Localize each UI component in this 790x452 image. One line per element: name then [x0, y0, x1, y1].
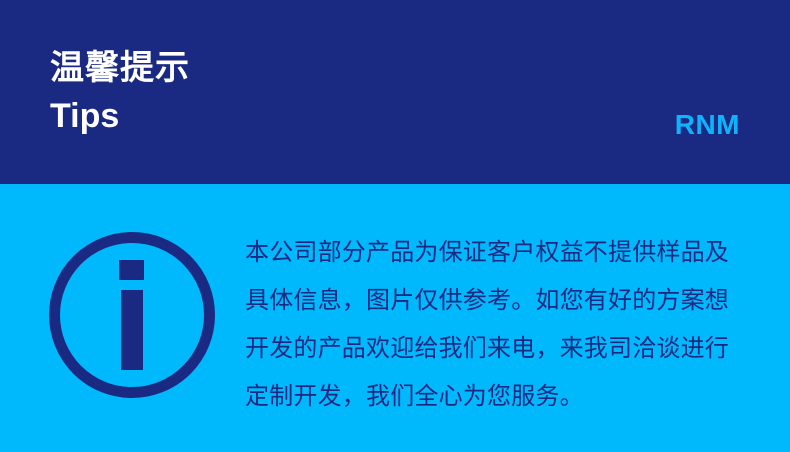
notice-line: 具体信息，图片仅供参考。如您有好的方案想: [245, 276, 735, 324]
page-title-cn: 温馨提示: [50, 46, 190, 90]
banner-header: 温馨提示 Tips RNM: [0, 0, 790, 184]
tips-notice-banner: 温馨提示 Tips RNM 本公司部分产品为保证客户权益不提供样品及 具体信息，…: [0, 0, 790, 452]
header-title-group: 温馨提示 Tips: [50, 46, 190, 138]
notice-line: 定制开发，我们全心为您服务。: [245, 372, 735, 420]
notice-line: 开发的产品欢迎给我们来电，来我司洽谈进行: [245, 324, 735, 372]
banner-body: 本公司部分产品为保证客户权益不提供样品及 具体信息，图片仅供参考。如您有好的方案…: [0, 184, 790, 452]
brand-logo-rnm: RNM: [675, 108, 740, 142]
notice-text-block: 本公司部分产品为保证客户权益不提供样品及 具体信息，图片仅供参考。如您有好的方案…: [245, 228, 735, 420]
notice-line: 本公司部分产品为保证客户权益不提供样品及: [245, 228, 735, 276]
info-circle-icon: [49, 232, 215, 398]
page-title-en: Tips: [50, 94, 190, 138]
